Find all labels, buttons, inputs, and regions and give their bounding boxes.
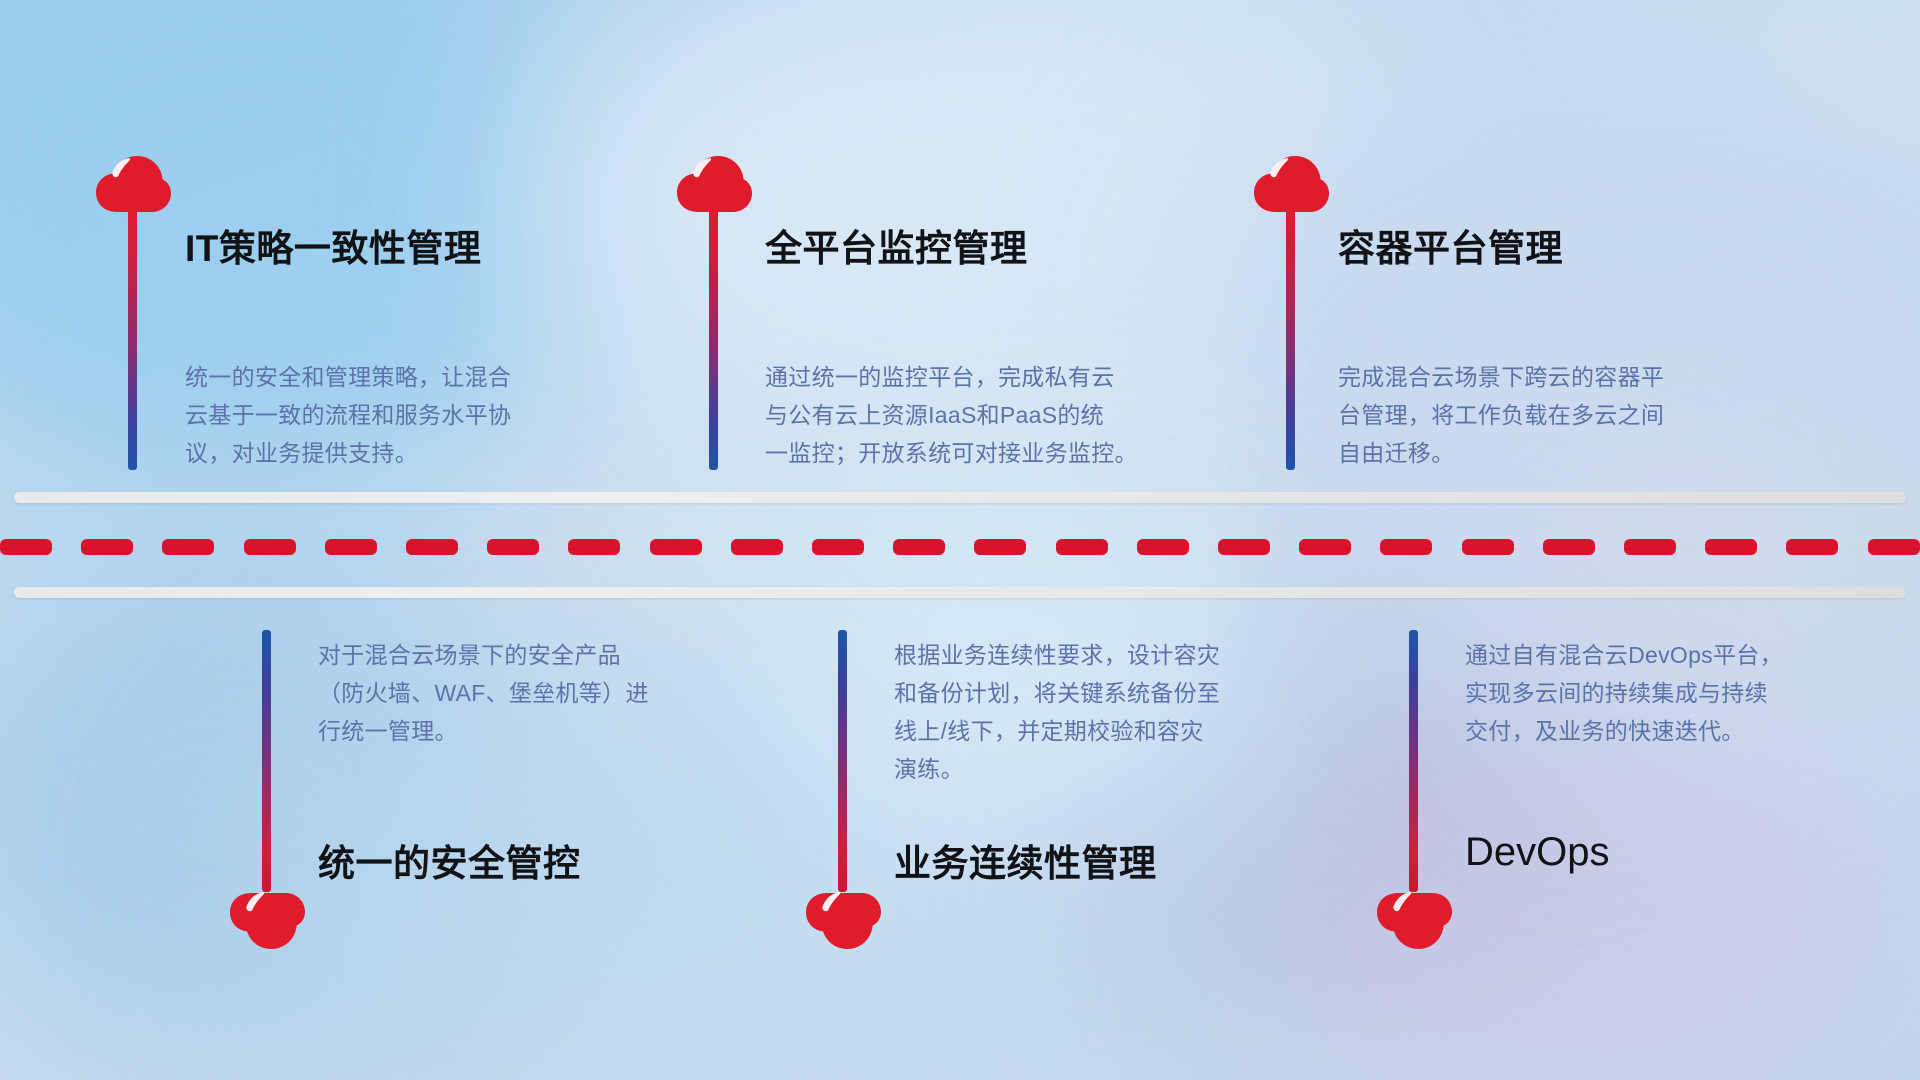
connector-line — [838, 630, 847, 892]
dash-segment — [1786, 539, 1838, 555]
dash-segment — [1218, 539, 1270, 555]
bottom-item-1-body: 对于混合云场景下的安全产品 （防火墙、WAF、堡垒机等）进 行统一管理。 — [318, 636, 748, 750]
infographic-canvas: IT策略一致性管理 统一的安全和管理策略，让混合 云基于一致的流程和服务水平协 … — [0, 0, 1920, 1080]
cloud-pin-icon — [1252, 155, 1330, 213]
dash-segment — [650, 539, 702, 555]
top-item-3-title: 容器平台管理 — [1338, 218, 1563, 272]
dash-segment — [1624, 539, 1676, 555]
dash-segment — [893, 539, 945, 555]
cloud-pin-icon — [804, 892, 882, 950]
dash-segment — [81, 539, 133, 555]
dash-segment — [0, 539, 52, 555]
connector-line — [128, 208, 137, 470]
dashed-separator — [0, 539, 1920, 555]
dash-segment — [325, 539, 377, 555]
top-item-2-body: 通过统一的监控平台，完成私有云 与公有云上资源IaaS和PaaS的统 一监控；开… — [765, 358, 1215, 472]
top-item-1-body: 统一的安全和管理策略，让混合 云基于一致的流程和服务水平协 议，对业务提供支持。 — [185, 358, 615, 472]
dash-segment — [974, 539, 1026, 555]
dash-segment — [1462, 539, 1514, 555]
cloud-pin-icon — [94, 155, 172, 213]
bottom-item-2-body: 根据业务连续性要求，设计容灾 和备份计划，将关键系统备份至 线上/线下，并定期校… — [894, 636, 1324, 788]
bottom-item-2-title: 业务连续性管理 — [894, 833, 1157, 887]
dash-segment — [568, 539, 620, 555]
dash-segment — [1705, 539, 1757, 555]
dash-segment — [1868, 539, 1920, 555]
top-item-2-title: 全平台监控管理 — [765, 218, 1028, 272]
connector-line — [262, 630, 271, 892]
cloud-pin-icon — [675, 155, 753, 213]
cloud-pin-icon — [1375, 892, 1453, 950]
dash-segment — [1056, 539, 1108, 555]
top-item-3-body: 完成混合云场景下跨云的容器平 台管理，将工作负载在多云之间 自由迁移。 — [1338, 358, 1778, 472]
connector-line — [1409, 630, 1418, 892]
dash-segment — [1380, 539, 1432, 555]
dash-segment — [731, 539, 783, 555]
bottom-item-1-title: 统一的安全管控 — [318, 833, 581, 887]
bottom-item-3-body: 通过自有混合云DevOps平台， 实现多云间的持续集成与持续 交付，及业务的快速… — [1465, 636, 1885, 750]
dash-segment — [244, 539, 296, 555]
connector-line — [709, 208, 718, 470]
dash-segment — [812, 539, 864, 555]
top-item-1-title: IT策略一致性管理 — [185, 218, 481, 272]
dash-segment — [1543, 539, 1595, 555]
dash-segment — [406, 539, 458, 555]
connector-line — [1286, 208, 1295, 470]
cloud-pin-icon — [228, 892, 306, 950]
bottom-item-3-title: DevOps — [1465, 830, 1610, 875]
divider-rail-bottom — [14, 587, 1906, 598]
dash-segment — [162, 539, 214, 555]
divider-rail-top — [14, 492, 1906, 503]
dash-segment — [487, 539, 539, 555]
dash-segment — [1299, 539, 1351, 555]
dash-segment — [1137, 539, 1189, 555]
